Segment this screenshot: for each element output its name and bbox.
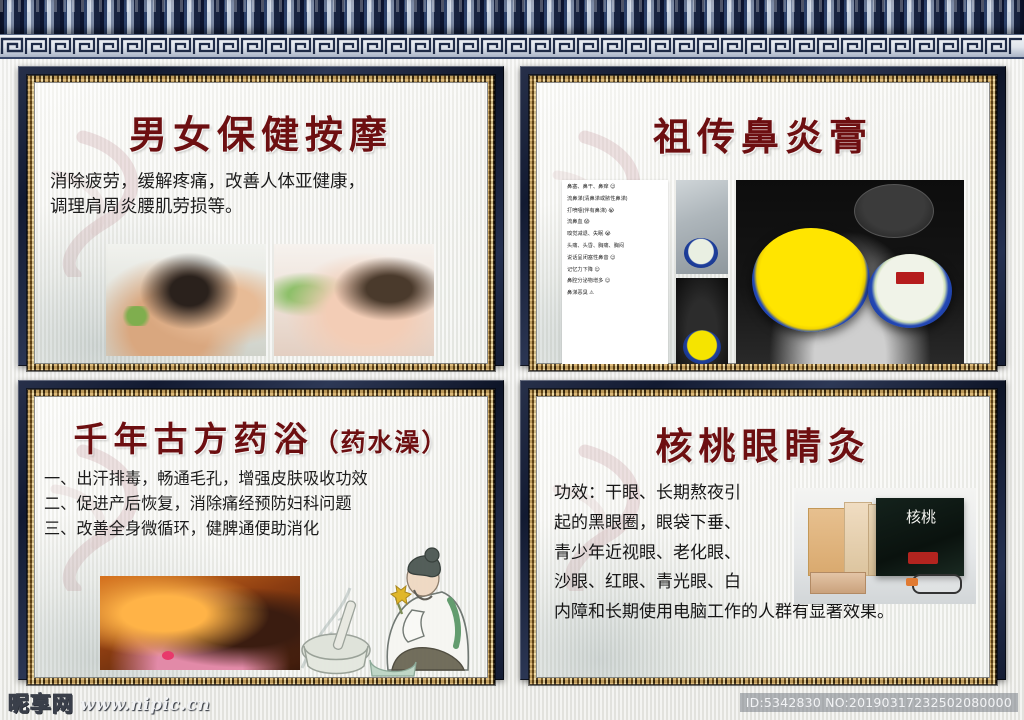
site-watermark: 昵享网 www.nipic.cn bbox=[8, 693, 210, 714]
panel-bath-title: 千年古方药浴（药水澡） bbox=[34, 412, 488, 461]
panel-bath: 千年古方药浴（药水澡） 一、出汗排毒，畅通毛孔，增强皮肤吸收功效 二、促进产后恢… bbox=[18, 380, 504, 680]
panel-massage-canvas: 男女保健按摩 消除疲劳，缓解疼痛，改善人体亚健康， 调理肩周炎腰肌劳损等。 bbox=[34, 82, 488, 364]
panel-massage-body-line-1: 消除疲劳，缓解疼痛，改善人体亚健康， bbox=[50, 169, 472, 194]
site-url: www.nipic.cn bbox=[80, 697, 210, 714]
moxibustion-goggles bbox=[912, 574, 962, 594]
panel-massage-gold-trim: 男女保健按摩 消除疲劳，缓解疼痛，改善人体亚健康， 调理肩周炎腰肌劳损等。 bbox=[27, 75, 495, 371]
panel-bath-gold-trim: 千年古方药浴（药水澡） 一、出汗排毒，畅通毛孔，增强皮肤吸收功效 二、促进产后恢… bbox=[27, 389, 495, 685]
bath-list-item: 二、促进产后恢复，消除痛经预防妇科问题 bbox=[44, 492, 478, 517]
symptom-line: 嗅觉减退、失眠 😭 bbox=[567, 231, 665, 238]
symptom-line: 打喷嚏(伴有鼻涕) 😭 bbox=[567, 208, 665, 215]
bath-list-item: 一、出汗排毒，畅通毛孔，增强皮肤吸收功效 bbox=[44, 467, 478, 492]
panel-nose-gold-trim: 祖传鼻炎膏 鼻塞、鼻干、鼻痒 😊 流鼻涕(清鼻涕或脓性鼻涕) 打喷嚏(伴有鼻涕)… bbox=[529, 75, 997, 371]
panel-massage-title: 男女保健按摩 bbox=[34, 104, 488, 159]
panel-walnut-canvas: 核桃眼睛灸 功效：干眼、长期熬夜引 起的黑眼圈，眼袋下垂、 青少年近视眼、老化眼… bbox=[536, 396, 990, 678]
panel-bath-canvas: 千年古方药浴（药水澡） 一、出汗排毒，畅通毛孔，增强皮肤吸收功效 二、促进产后恢… bbox=[34, 396, 488, 678]
panel-nose: 祖传鼻炎膏 鼻塞、鼻干、鼻痒 😊 流鼻涕(清鼻涕或脓性鼻涕) 打喷嚏(伴有鼻涕)… bbox=[520, 66, 1006, 366]
panel-bath-title-sub: （药水澡） bbox=[313, 428, 448, 457]
massage-woman-photo bbox=[274, 244, 434, 356]
nose-cream-jar-large-photo bbox=[736, 180, 964, 364]
image-id-watermark: ID:5342830 NO:20190317232502080000 bbox=[740, 693, 1018, 712]
symptom-line: 说话呈闭塞性鼻音 😊 bbox=[567, 255, 665, 262]
yellow-ointment-jar bbox=[752, 228, 870, 332]
symptom-line: 鼻腔分泌物增多 😊 bbox=[567, 278, 665, 285]
gift-box: 核桃 bbox=[876, 498, 964, 576]
herbalist-illustration bbox=[292, 528, 482, 678]
greek-key-border bbox=[0, 34, 1024, 59]
package-lid bbox=[684, 238, 718, 268]
nose-cream-package-photo bbox=[676, 180, 728, 274]
panel-nose-title: 祖传鼻炎膏 bbox=[536, 106, 990, 161]
rose-petal bbox=[162, 651, 174, 660]
symptom-line: 头痛、头昏、胸痛、胸闷 bbox=[567, 243, 665, 250]
site-logo: 昵享网 bbox=[8, 693, 74, 714]
symptom-line: 鼻涕恶臭 ⚠ bbox=[567, 290, 665, 297]
gift-box-label: 核桃 bbox=[906, 510, 936, 526]
poster-canvas: 男女保健按摩 消除疲劳，缓解疼痛，改善人体亚健康， 调理肩周炎腰肌劳损等。 bbox=[0, 0, 1024, 720]
panel-massage-body-line-2: 调理肩周炎腰肌劳损等。 bbox=[50, 194, 472, 219]
panel-massage-body: 消除疲劳，缓解疼痛，改善人体亚健康， 调理肩周炎腰肌劳损等。 bbox=[34, 169, 488, 220]
panel-massage: 男女保健按摩 消除疲劳，缓解疼痛，改善人体亚健康， 调理肩周炎腰肌劳损等。 bbox=[18, 66, 504, 366]
gift-box-red-mark bbox=[908, 552, 938, 564]
jar-lid-small bbox=[683, 330, 721, 364]
symptom-line: 鼻塞、鼻干、鼻痒 😊 bbox=[567, 184, 665, 191]
walnut-eye-moxibustion-box-photo: 核桃 bbox=[794, 488, 976, 604]
symptom-line: 流鼻血 😱 bbox=[567, 219, 665, 226]
nose-symptom-screenshot: 鼻塞、鼻干、鼻痒 😊 流鼻涕(清鼻涕或脓性鼻涕) 打喷嚏(伴有鼻涕) 😭 流鼻血… bbox=[562, 180, 668, 364]
panel-walnut-title: 核桃眼睛灸 bbox=[536, 416, 990, 470]
roof-tile-border bbox=[0, 0, 1024, 36]
walnut-cake bbox=[810, 572, 866, 594]
panel-walnut-gold-trim: 核桃眼睛灸 功效：干眼、长期熬夜引 起的黑眼圈，眼袋下垂、 青少年近视眼、老化眼… bbox=[529, 389, 997, 685]
panel-bath-title-main: 千年古方药浴 bbox=[73, 420, 313, 460]
herbal-bath-photo bbox=[100, 576, 300, 670]
symptom-line: 流鼻涕(清鼻涕或脓性鼻涕) bbox=[567, 196, 665, 203]
petri-dish bbox=[854, 184, 934, 238]
panel-grid: 男女保健按摩 消除疲劳，缓解疼痛，改善人体亚健康， 调理肩周炎腰肌劳损等。 bbox=[18, 66, 1006, 680]
panel-walnut: 核桃眼睛灸 功效：干眼、长期熬夜引 起的黑眼圈，眼袋下垂、 青少年近视眼、老化眼… bbox=[520, 380, 1006, 680]
greek-key-icon bbox=[0, 35, 1024, 57]
nose-cream-jar-small-photo bbox=[676, 278, 728, 364]
red-seal-label bbox=[896, 272, 924, 284]
panel-nose-canvas: 祖传鼻炎膏 鼻塞、鼻干、鼻痒 😊 流鼻涕(清鼻涕或脓性鼻涕) 打喷嚏(伴有鼻涕)… bbox=[536, 82, 990, 364]
massage-man-photo bbox=[106, 244, 266, 356]
symptom-line: 记忆力下降 😊 bbox=[567, 267, 665, 274]
product-envelope-1 bbox=[808, 508, 846, 576]
labelled-jar bbox=[868, 254, 952, 328]
